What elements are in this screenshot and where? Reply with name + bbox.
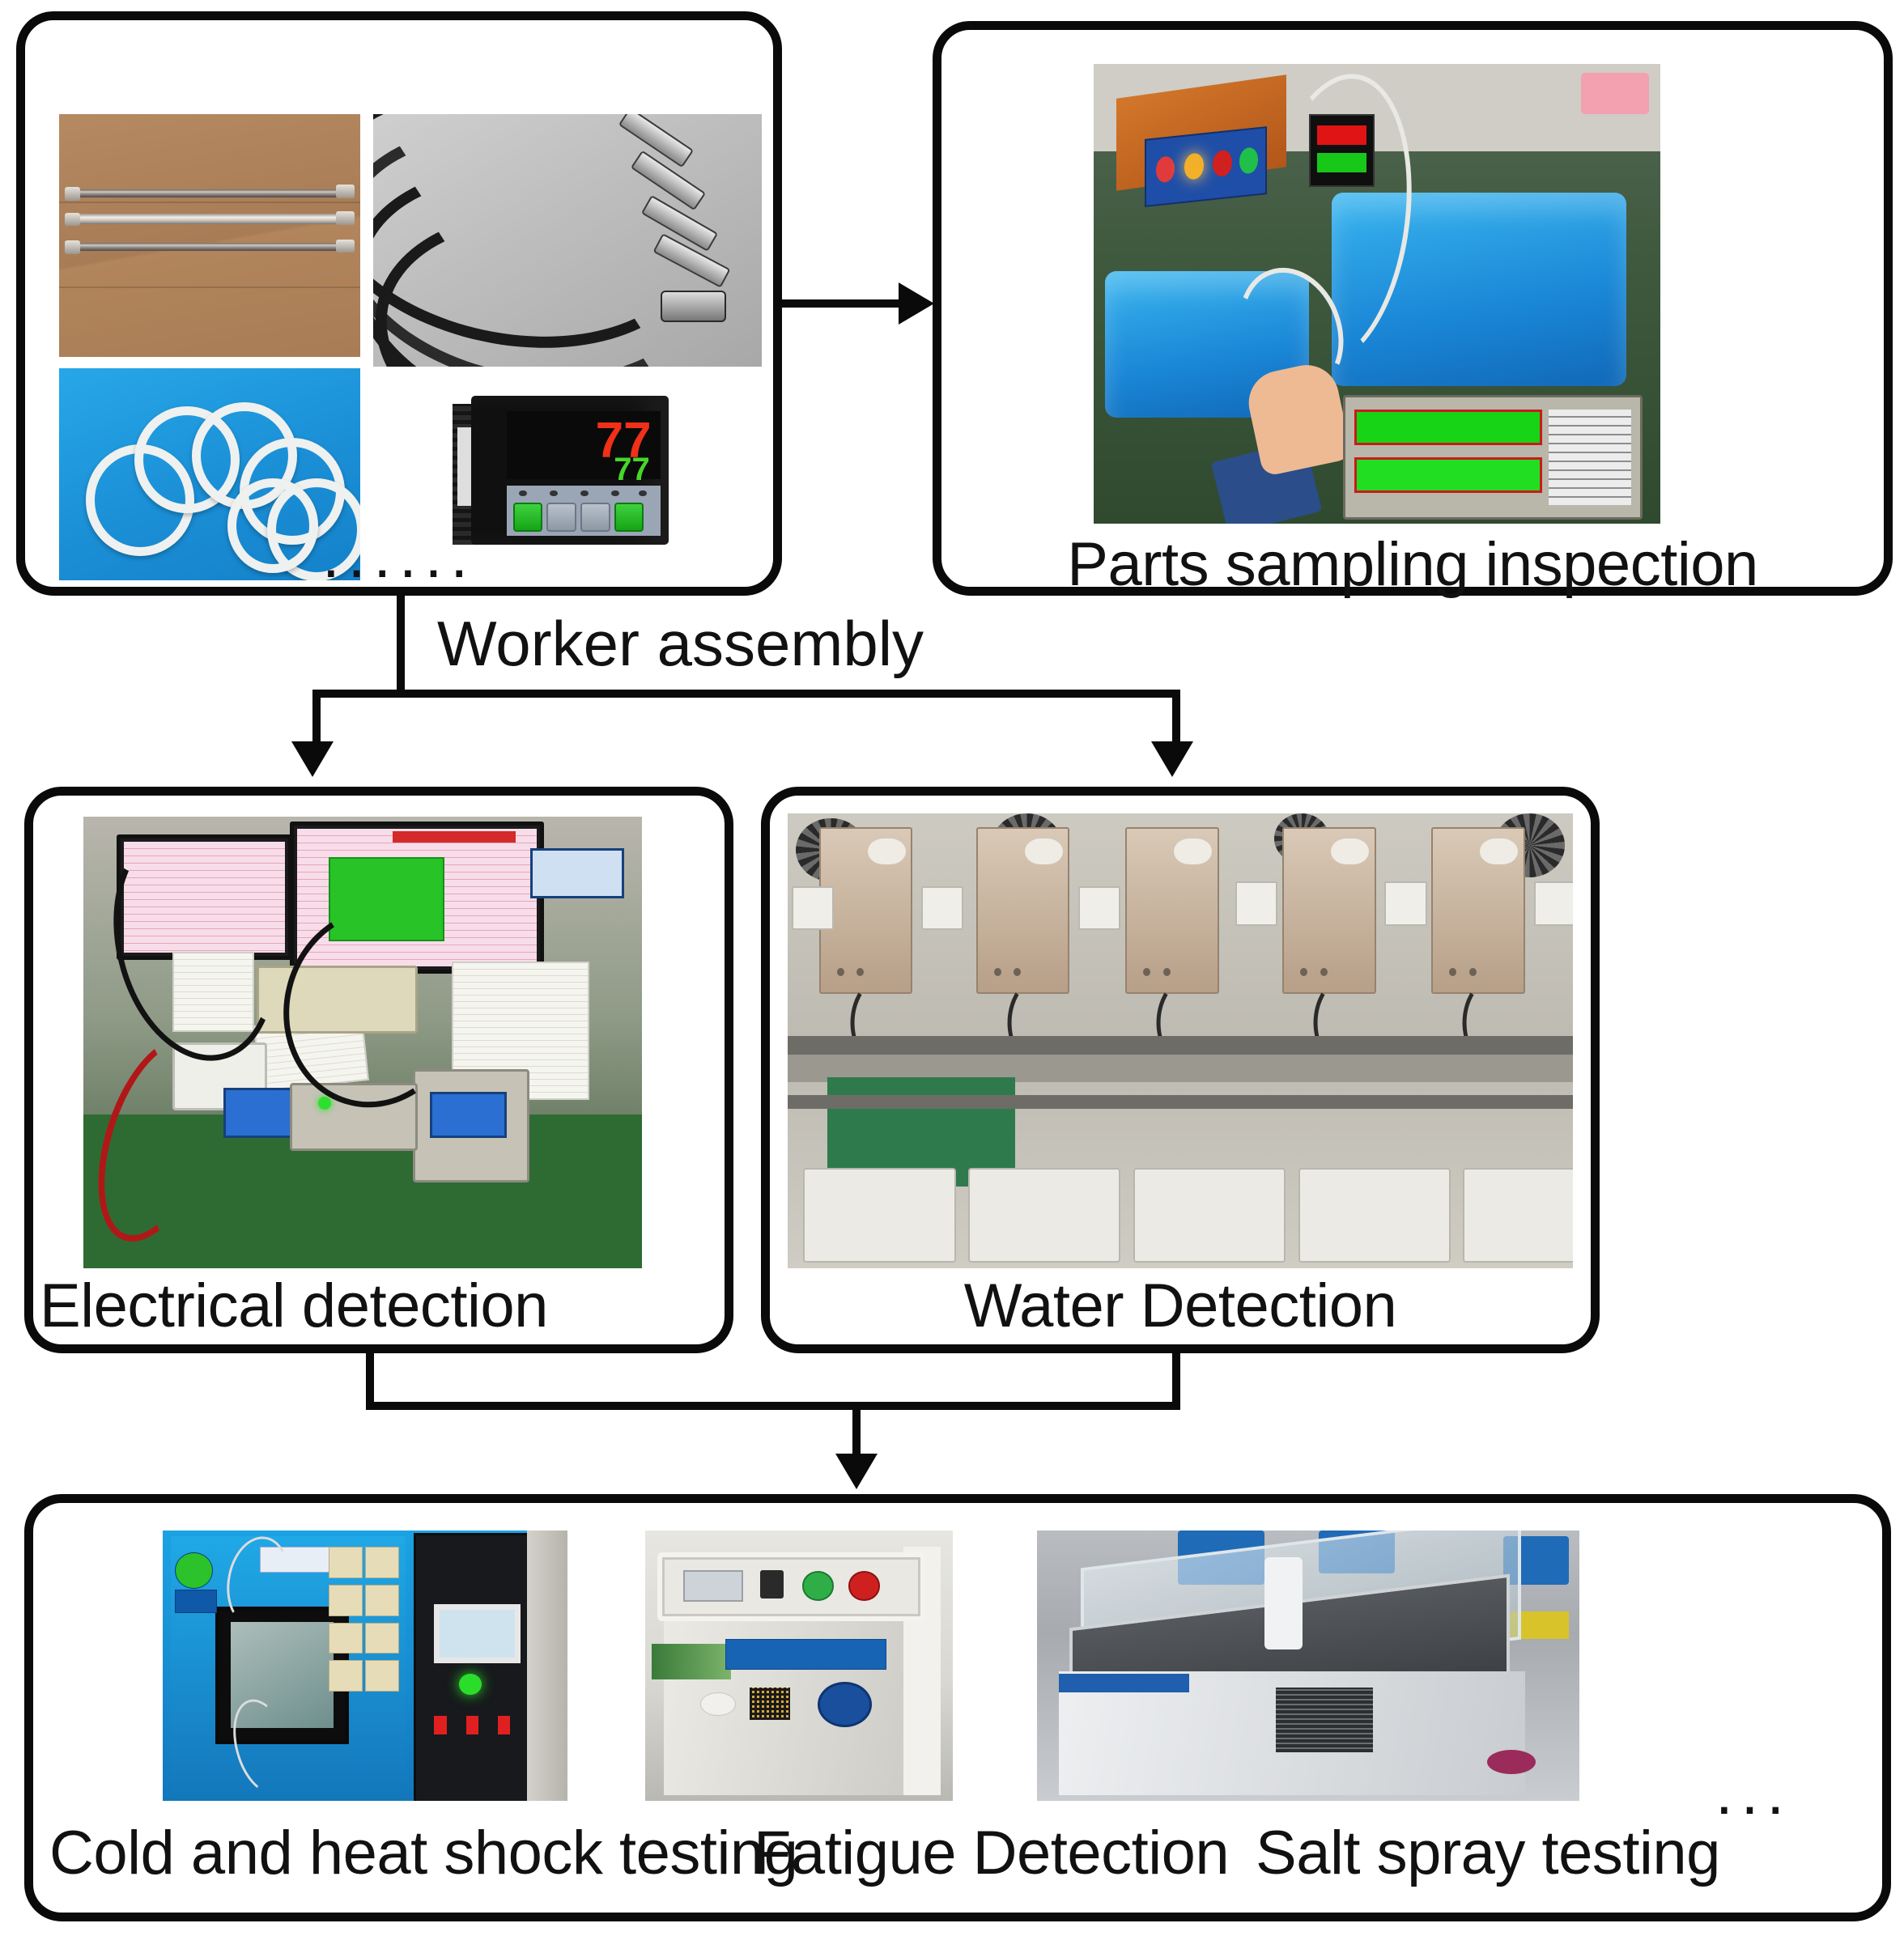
flow-diagram-canvas: 77 77 ...... [0, 0, 1904, 1936]
edge-to-electrical-arrowhead [291, 741, 334, 777]
edge-to-reliability-arrowhead [835, 1454, 878, 1489]
salt-spray-chamber-photo [1037, 1531, 1579, 1801]
reliability-caption-2: Salt spray testing [1256, 1822, 1720, 1885]
edge-assembly-bus [312, 690, 1180, 698]
cold-heat-shock-chamber-photo [163, 1531, 567, 1801]
node-sampling-box[interactable]: Parts sampling inspection [933, 21, 1893, 596]
node-water-box[interactable]: Water Detection [761, 787, 1600, 1353]
node-reliability-box[interactable]: ... Cold and heat shock testing Fatigue … [24, 1494, 1891, 1921]
electrical-detection-bench-photo [83, 817, 642, 1268]
parts-ellipsis: ...... [25, 524, 773, 587]
edge-parts-stem [397, 596, 405, 694]
node-water-caption: Water Detection [770, 1275, 1591, 1338]
edge-to-water-drop [1172, 690, 1180, 748]
metal-hose-assemblies-photo [59, 114, 360, 357]
node-sampling-caption: Parts sampling inspection [941, 533, 1884, 597]
water-detection-line-photo [788, 813, 1573, 1268]
edge-to-water-arrowhead [1151, 741, 1193, 777]
edge-electrical-stem [366, 1353, 374, 1407]
reliability-caption-1: Fatigue Detection [754, 1822, 1229, 1885]
node-electrical-caption: Electrical detection [40, 1275, 548, 1338]
reliability-caption-0: Cold and heat shock testing [49, 1822, 797, 1885]
edge-parts-to-sampling-line [782, 299, 903, 308]
edge-water-stem [1172, 1353, 1180, 1407]
node-parts-box[interactable]: 77 77 ...... [16, 11, 782, 596]
controller-bottom-value: 77 [614, 453, 650, 486]
edge-to-electrical-drop [312, 690, 321, 748]
edge-worker-assembly-label: Worker assembly [437, 607, 924, 681]
parts-sampling-bench-photo [1094, 64, 1660, 524]
node-electrical-box[interactable]: Electrical detection [24, 787, 733, 1353]
edge-parts-to-sampling-arrowhead [899, 282, 934, 325]
edge-merge-drop [852, 1402, 861, 1460]
fatigue-detection-cabinet-photo [645, 1531, 953, 1801]
black-cable-assemblies-photo [373, 114, 762, 367]
edge-detection-merge-bus [366, 1402, 1180, 1410]
reliability-ellipsis: ... [1715, 1760, 1792, 1823]
